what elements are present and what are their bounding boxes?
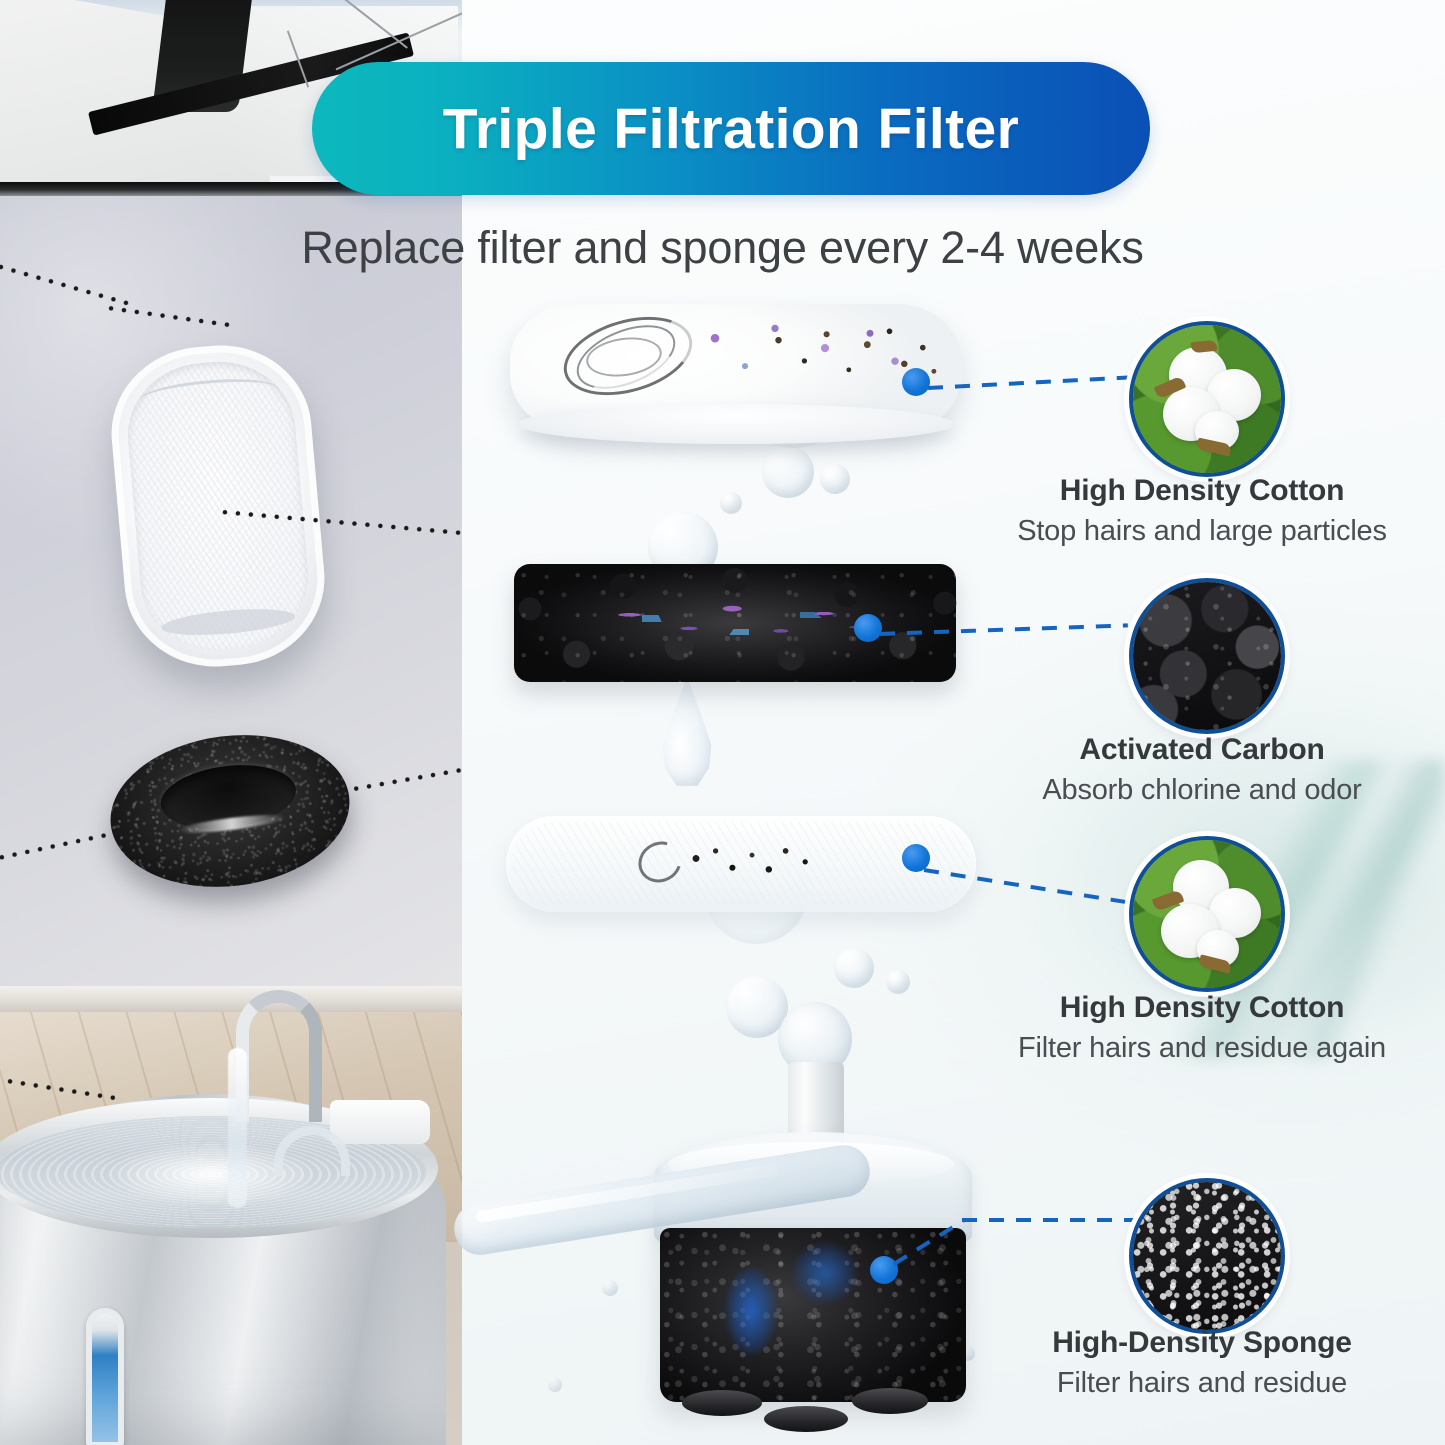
leader-dotline-2b [337, 767, 462, 795]
white-filter-pad [104, 338, 331, 674]
debris-particles [682, 840, 822, 882]
connector-dot-1 [902, 368, 930, 396]
caption-high-density-cotton-2: High Density Cotton Filter hairs and res… [922, 991, 1445, 1065]
cotton-pad-top-layer [510, 304, 962, 432]
feature-title: Activated Carbon [922, 733, 1445, 767]
feature-description: Absorb chlorine and odor [922, 774, 1445, 807]
bacteria-particles [624, 604, 874, 648]
sponge-blue-glow [794, 1244, 856, 1302]
badge-activated-carbon [1129, 578, 1285, 734]
badge-high-density-cotton-2 [1129, 836, 1285, 992]
fountain-white-module [330, 1100, 430, 1144]
fountain-water-level-window [86, 1308, 124, 1445]
sponge-texture-photo [1133, 1182, 1281, 1330]
feature-description: Stop hairs and large particles [922, 515, 1445, 548]
stainless-steel-fountain-photo [0, 986, 462, 1445]
page-title: Triple Filtration Filter [443, 96, 1019, 162]
header-banner: Triple Filtration Filter [312, 62, 1150, 195]
suction-foot [682, 1390, 762, 1416]
filter-exploded-view [462, 196, 1445, 1445]
badge-high-density-cotton-1 [1129, 321, 1285, 477]
sponge-blue-glow [726, 1268, 776, 1354]
badge-high-density-sponge [1129, 1178, 1285, 1334]
pump-with-sponge [542, 1006, 972, 1426]
bubble [720, 492, 742, 514]
cotton-boll-photo [1133, 325, 1281, 473]
infographic-canvas: Triple Filtration Filter Replace filter … [0, 0, 1445, 1445]
fountain-water-stream [228, 1048, 247, 1208]
cotton-pad-lip [518, 404, 954, 444]
feature-title: High-Density Sponge [922, 1326, 1445, 1360]
bubble [834, 948, 874, 988]
caption-activated-carbon: Activated Carbon Absorb chlorine and odo… [922, 733, 1445, 807]
feature-description: Filter hairs and residue again [922, 1032, 1445, 1065]
activated-carbon-layer [514, 564, 956, 682]
left-parts-panel [0, 196, 462, 986]
caption-high-density-cotton-1: High Density Cotton Stop hairs and large… [922, 474, 1445, 548]
black-foam-ring [102, 722, 358, 900]
connector-dash-4b [962, 1218, 1160, 1222]
connector-dot-2 [854, 614, 882, 642]
feature-description: Filter hairs and residue [922, 1367, 1445, 1400]
cotton-boll-photo [1133, 840, 1281, 988]
fountain-chrome-spout [236, 990, 322, 1122]
suction-foot [764, 1406, 848, 1432]
leader-dotline-2a [0, 828, 129, 861]
suction-foot [852, 1388, 928, 1414]
feature-title: High Density Cotton [922, 991, 1445, 1025]
bubble [886, 970, 910, 994]
feature-title: High Density Cotton [922, 474, 1445, 508]
activated-carbon-photo [1133, 582, 1281, 730]
bubble [820, 464, 850, 494]
caption-high-density-sponge: High-Density Sponge Filter hairs and res… [922, 1326, 1445, 1400]
bubble [762, 446, 814, 498]
